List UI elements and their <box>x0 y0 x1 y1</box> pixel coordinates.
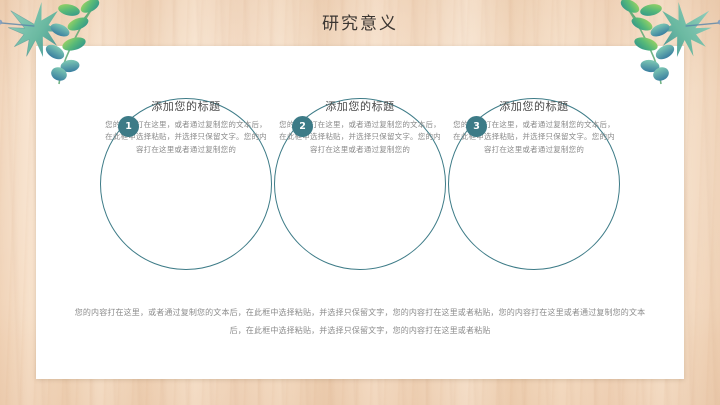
step-badge-1[interactable]: 1 <box>118 116 139 137</box>
step-badge-2[interactable]: 2 <box>292 116 313 137</box>
slide-canvas: 研究意义 添加您的标题 您的内容打在这里，或者通过复制您的文本后，在此框中选择粘… <box>0 0 720 405</box>
step-badge-3[interactable]: 3 <box>466 116 487 137</box>
footnote-paragraph: 您的内容打在这里，或者通过复制您的文本后，在此框中选择粘贴，并选择只保留文字，您… <box>70 304 650 340</box>
page-title: 研究意义 <box>0 9 720 34</box>
content-card: 添加您的标题 您的内容打在这里，或者通过复制您的文本后，在此框中选择粘贴，并选择… <box>36 46 684 379</box>
